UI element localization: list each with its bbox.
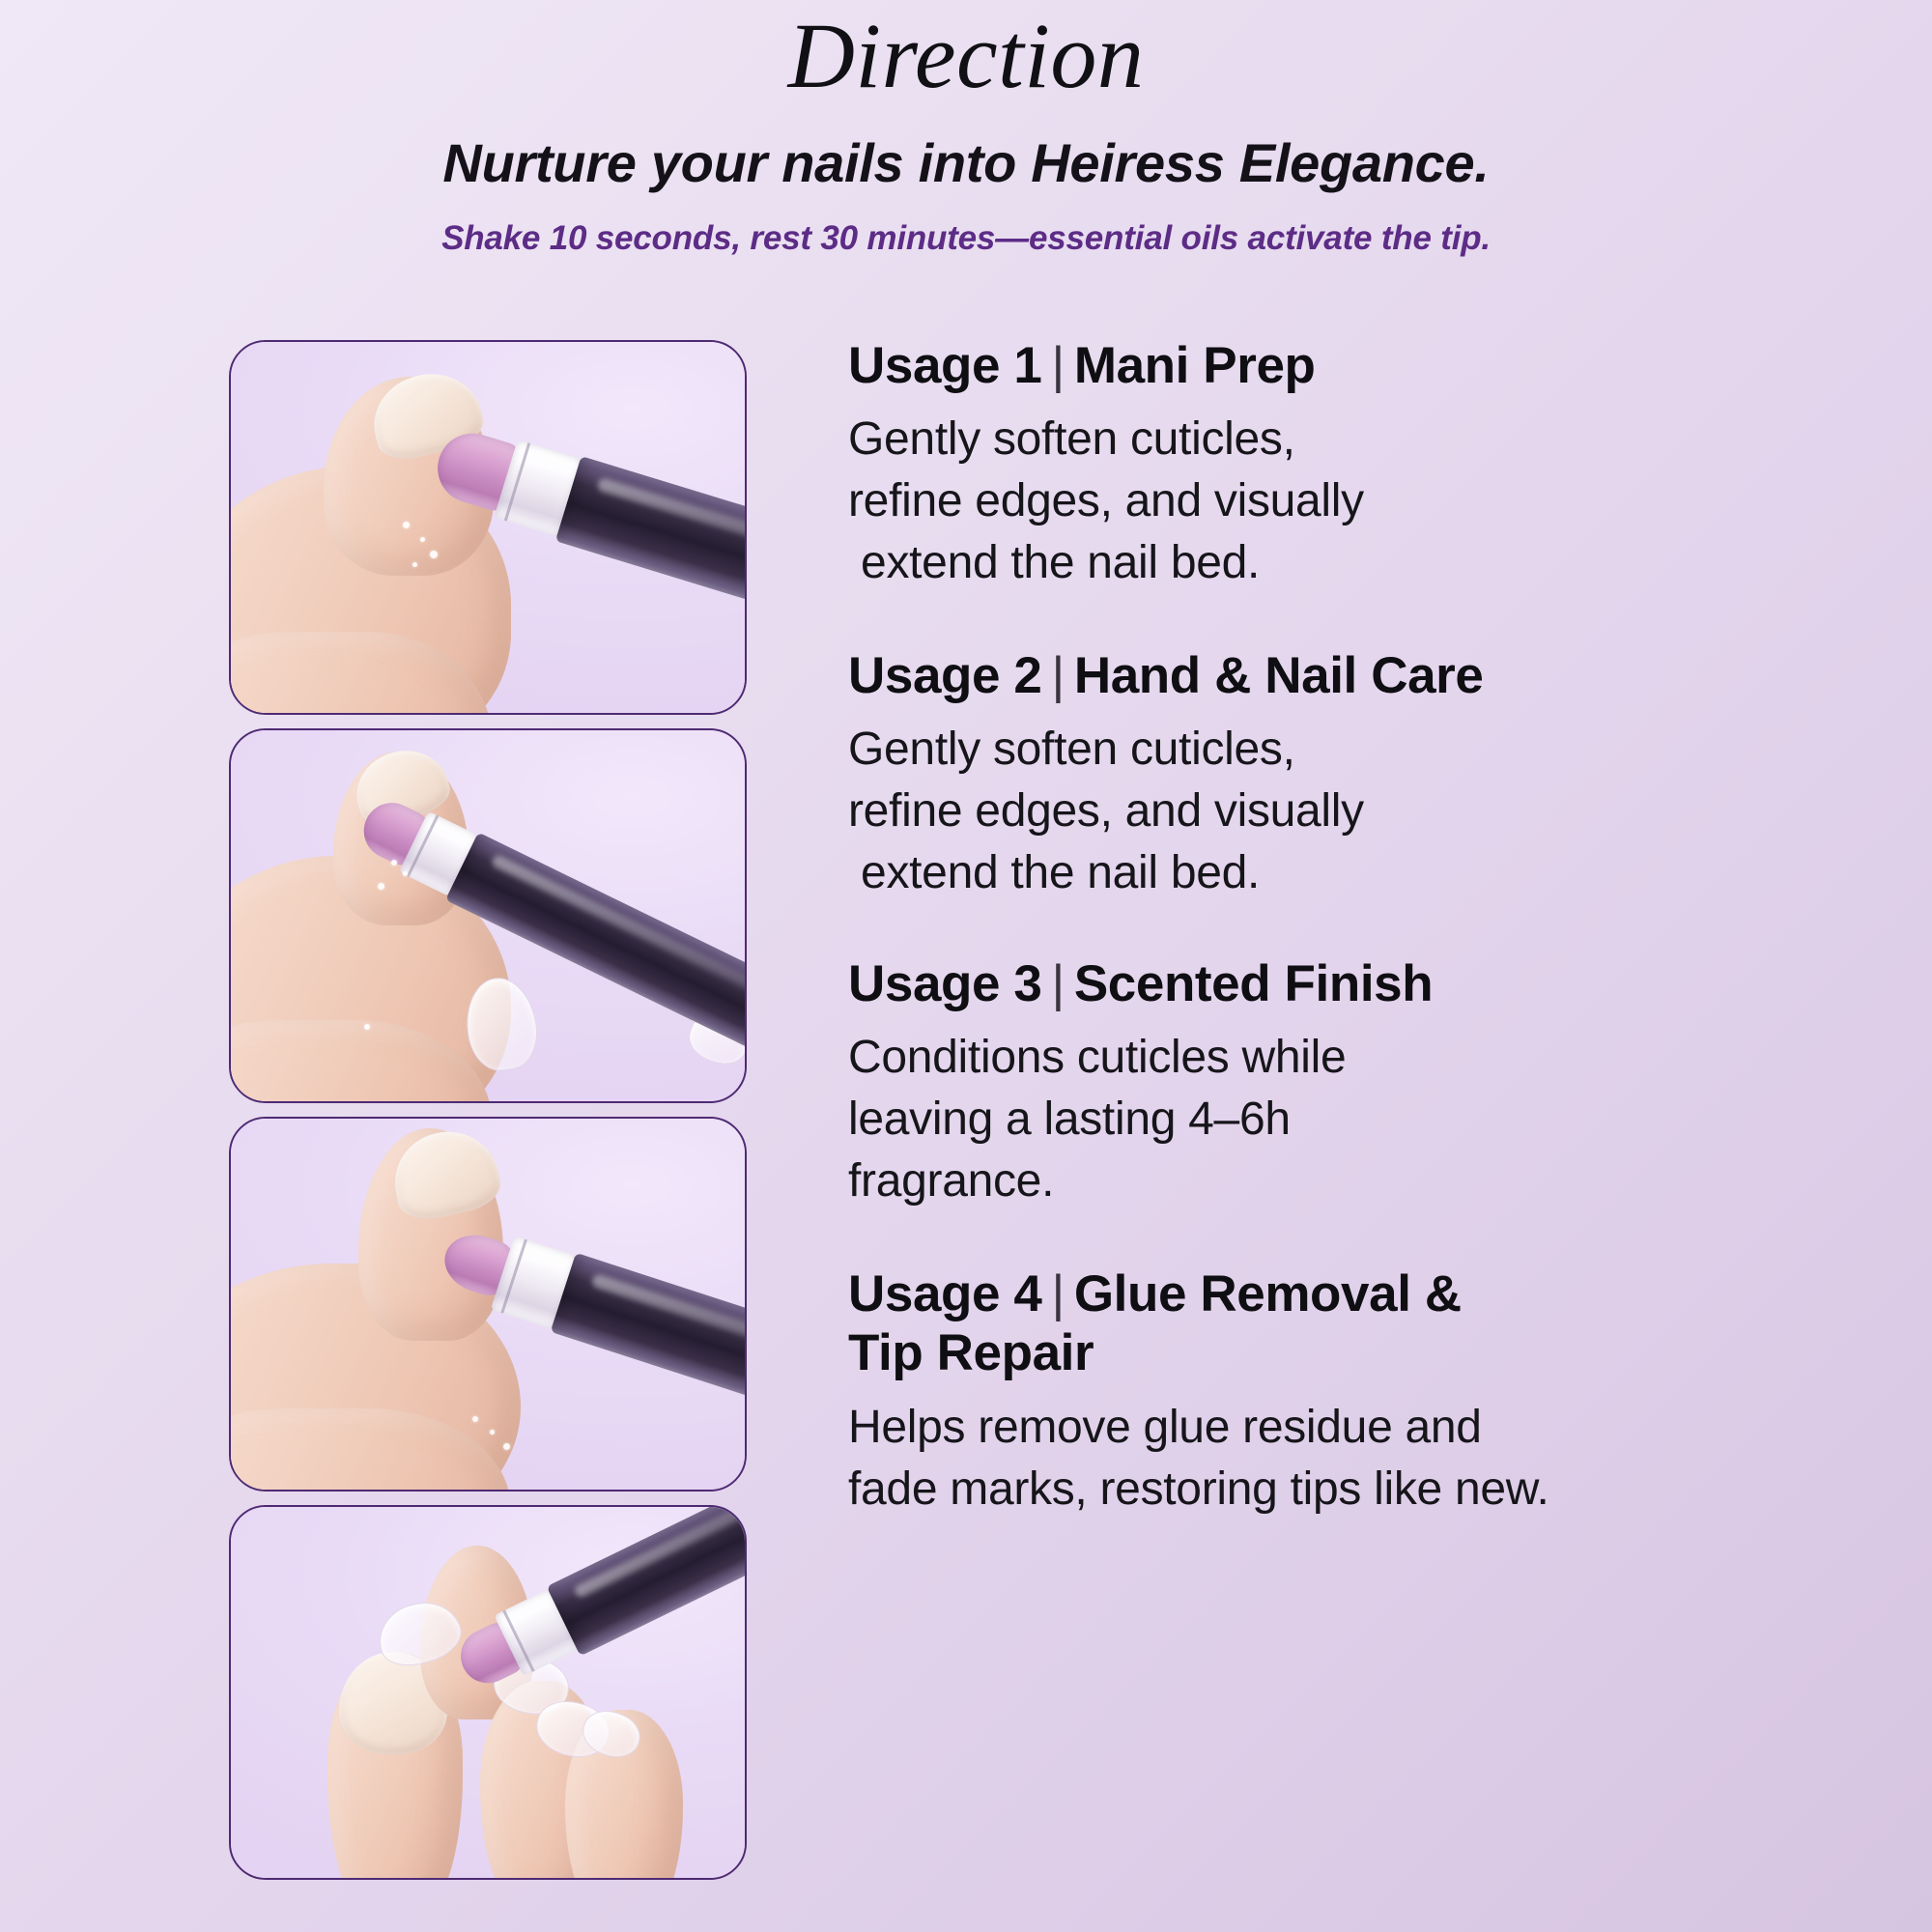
photo-card-usage-3 bbox=[229, 1117, 747, 1492]
usage-step-1-body: Gently soften cuticles, refine edges, an… bbox=[848, 409, 1903, 593]
photo-card-usage-2 bbox=[229, 728, 747, 1103]
usage-step-3: Usage 3|Scented Finish Conditions cuticl… bbox=[848, 954, 1903, 1212]
usage-step-4-separator: | bbox=[1041, 1265, 1073, 1322]
usage-step-4-body: Helps remove glue residue and fade marks… bbox=[848, 1397, 1903, 1520]
usage-step-2-name: Hand & Nail Care bbox=[1074, 647, 1484, 704]
usage-step-1-heading: Usage 1|Mani Prep bbox=[848, 336, 1903, 395]
usage-step-3-body: Conditions cuticles while leaving a last… bbox=[848, 1027, 1903, 1211]
direction-infographic: Direction Nurture your nails into Heires… bbox=[0, 0, 1932, 1932]
usage-step-4-label: Usage 4 bbox=[848, 1265, 1041, 1322]
photo-card-usage-4 bbox=[229, 1505, 747, 1880]
usage-step-3-label: Usage 3 bbox=[848, 955, 1041, 1012]
usage-step-3-name: Scented Finish bbox=[1074, 955, 1433, 1012]
page-title: Direction bbox=[0, 6, 1932, 106]
product-photo-1 bbox=[231, 342, 745, 713]
usage-step-4: Usage 4|Glue Removal & Tip Repair Helps … bbox=[848, 1264, 1903, 1520]
usage-step-3-separator: | bbox=[1041, 955, 1073, 1012]
usage-step-2-label: Usage 2 bbox=[848, 647, 1041, 704]
usage-steps: Usage 1|Mani Prep Gently soften cuticles… bbox=[747, 340, 1932, 1527]
usage-step-2: Usage 2|Hand & Nail Care Gently soften c… bbox=[848, 646, 1903, 904]
photo-gallery bbox=[0, 340, 747, 1880]
usage-step-2-separator: | bbox=[1041, 647, 1073, 704]
header: Direction Nurture your nails into Heires… bbox=[0, 0, 1932, 259]
usage-step-1-separator: | bbox=[1041, 337, 1073, 394]
page-tagline: Shake 10 seconds, rest 30 minutes—essent… bbox=[0, 219, 1932, 258]
product-photo-4 bbox=[231, 1507, 745, 1878]
usage-step-1-name: Mani Prep bbox=[1074, 337, 1316, 394]
usage-step-1: Usage 1|Mani Prep Gently soften cuticles… bbox=[848, 336, 1903, 594]
usage-step-3-heading: Usage 3|Scented Finish bbox=[848, 954, 1903, 1013]
page-subtitle: Nurture your nails into Heiress Elegance… bbox=[0, 133, 1932, 193]
product-photo-3 bbox=[231, 1119, 745, 1490]
product-photo-2 bbox=[231, 730, 745, 1101]
usage-step-2-heading: Usage 2|Hand & Nail Care bbox=[848, 646, 1903, 705]
usage-step-4-heading: Usage 4|Glue Removal & Tip Repair bbox=[848, 1264, 1903, 1383]
photo-card-usage-1 bbox=[229, 340, 747, 715]
usage-step-2-body: Gently soften cuticles, refine edges, an… bbox=[848, 719, 1903, 903]
content-area: Usage 1|Mani Prep Gently soften cuticles… bbox=[0, 340, 1932, 1880]
usage-step-1-label: Usage 1 bbox=[848, 337, 1041, 394]
